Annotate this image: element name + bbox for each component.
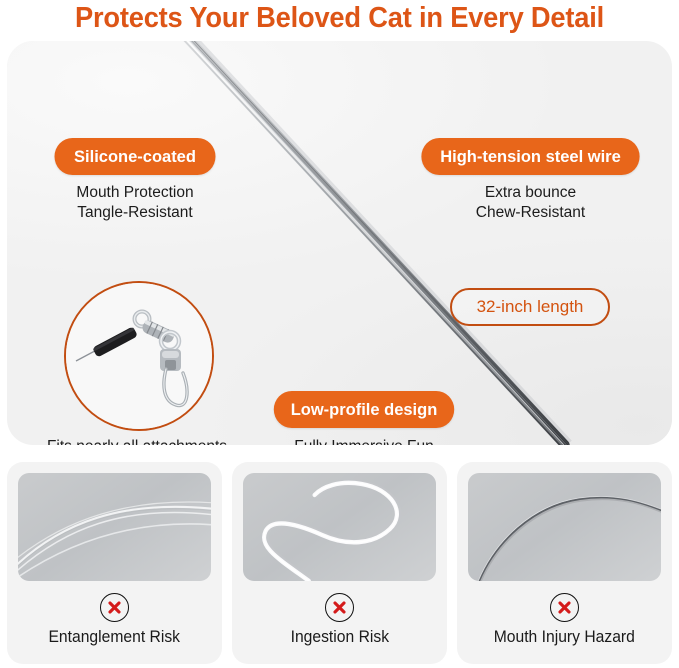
warning-card-ingestion: Ingestion Risk: [232, 462, 447, 664]
callout-caption-attachments: Fits nearly all attachments: [27, 437, 247, 445]
warning-label: Ingestion Risk: [290, 628, 388, 647]
badge-low-profile-design: Low-profile design: [274, 391, 454, 428]
feature-text-steel: Extra bounce Chew-Resistant: [418, 183, 643, 223]
badge-high-tension-steel-wire: High-tension steel wire: [421, 138, 639, 175]
warning-label: Entanglement Risk: [49, 628, 181, 647]
feature-text-silicone: Mouth Protection Tangle-Resistant: [52, 183, 218, 223]
hero-panel: Silicone-coated Mouth Protection Tangle-…: [7, 41, 672, 445]
card-image-tangled-threads: [18, 473, 211, 581]
swivel-clip-photo: [66, 283, 212, 429]
feature-line-2: Tangle-Resistant: [52, 203, 218, 223]
feature-line-1: Extra bounce: [418, 183, 643, 203]
red-x-in-circle-icon: [325, 593, 354, 622]
warning-label: Mouth Injury Hazard: [494, 628, 635, 647]
badge-silicone-coated: Silicone-coated: [54, 138, 215, 175]
card-image-bare-wire-curve: [468, 473, 661, 581]
feature-line-2: Chew-Resistant: [418, 203, 643, 223]
feature-line-1: Mouth Protection: [52, 183, 218, 203]
warning-card-mouth-injury: Mouth Injury Hazard: [457, 462, 672, 664]
red-x-in-circle-icon: [550, 593, 579, 622]
red-x-in-circle-icon: [100, 593, 129, 622]
warning-card-entanglement: Entanglement Risk: [7, 462, 222, 664]
attachment-callout-circle: [64, 281, 214, 431]
warning-card-list: Entanglement Risk Ingestion Risk: [7, 462, 672, 664]
feature-line-1: Fully Immersive Fun: [271, 437, 457, 445]
page-title: Protects Your Beloved Cat in Every Detai…: [20, 0, 658, 38]
feature-text-lowprofile: Fully Immersive Fun: [271, 437, 457, 445]
badge-32-inch-length: 32-inch length: [450, 288, 610, 326]
card-image-wavy-cord: [243, 473, 436, 581]
